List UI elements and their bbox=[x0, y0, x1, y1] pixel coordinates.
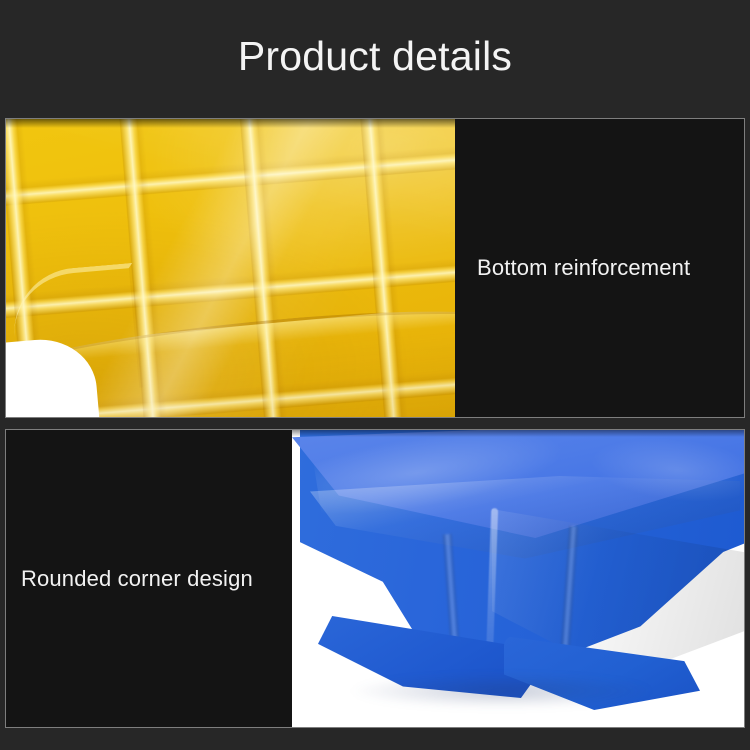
detail-row-rounded-corner: Rounded corner design bbox=[5, 429, 745, 728]
product-details-page: Product details Bottom reinforcement Rou… bbox=[0, 0, 750, 750]
yellow-crate-image bbox=[6, 119, 455, 417]
caption-pane-bottom-reinforcement: Bottom reinforcement bbox=[455, 119, 744, 417]
blue-crate-contact-shadow bbox=[352, 674, 652, 708]
page-title: Product details bbox=[0, 36, 750, 77]
blue-crate-image bbox=[292, 430, 744, 727]
caption-label-rounded-corner: Rounded corner design bbox=[6, 566, 253, 592]
product-photo-yellow-crate-bottom bbox=[6, 119, 455, 417]
yellow-crate-specular-sheen bbox=[6, 119, 455, 417]
blue-photo-top-shadow bbox=[292, 430, 744, 437]
yellow-photo-top-shadow bbox=[6, 119, 455, 128]
product-photo-blue-crate-corner bbox=[292, 430, 744, 727]
caption-pane-rounded-corner: Rounded corner design bbox=[6, 430, 292, 727]
detail-row-bottom-reinforcement: Bottom reinforcement bbox=[5, 118, 745, 418]
caption-label-bottom-reinforcement: Bottom reinforcement bbox=[455, 255, 690, 281]
